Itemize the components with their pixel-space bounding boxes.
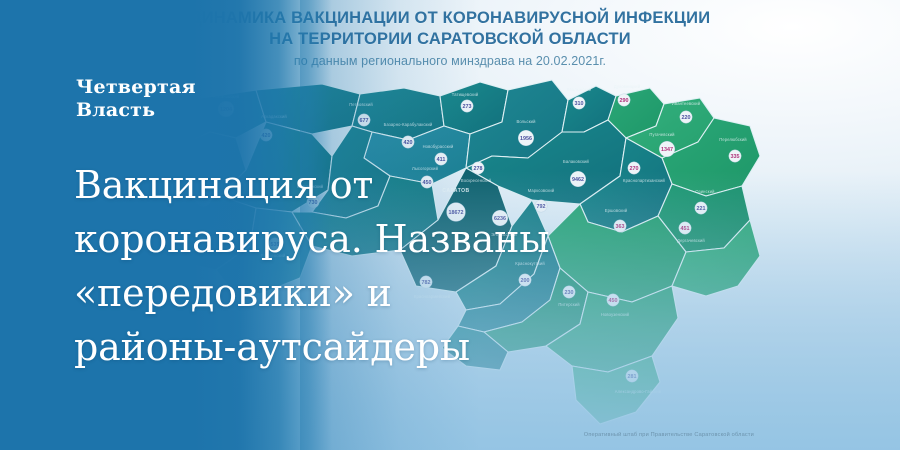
article-hero-image: РомановскийТурковскийАркадакскийПетровск… [0,0,900,450]
headline-line4: районы-аутсайдеры [74,320,694,374]
bubble-value: 335 [731,154,740,160]
map-value-bubble[interactable]: 220 [680,111,692,123]
map-region-label: Перелюбский [719,137,746,142]
map-value-bubble[interactable]: 335 [729,150,741,162]
map-region-label: Вольский [516,119,535,124]
headline-line2: коронавируса. Названы [74,212,694,266]
bubble-value: 310 [575,101,584,107]
map-region-label: Ивантеевский [672,101,700,106]
map-region-label: Хвалынский [567,87,592,92]
map-value-bubble[interactable]: 290 [618,94,630,106]
bubble-value: 1956 [520,136,532,142]
headline-line3: «передовики» и [74,266,694,320]
bubble-value: 220 [682,115,691,121]
site-logo[interactable]: Четвертая Власть [76,76,196,122]
map-value-bubble[interactable]: 1956 [518,130,534,146]
map-source-credit: Оперативный штаб при Правительстве Сарат… [584,432,754,438]
map-region-label: Духовницкий [614,84,640,89]
map-value-bubble[interactable]: 310 [573,97,585,109]
headline-line1: Вакцинация от [74,158,694,212]
map-value-bubble[interactable]: 1347 [659,141,675,157]
site-logo-line2: Власть [76,99,196,122]
bubble-value: 1347 [661,147,673,153]
map-region-label: Пугачевский [649,132,674,137]
bubble-value: 290 [620,98,629,104]
article-headline[interactable]: Вакцинация от коронавируса. Названы «пер… [74,158,694,374]
site-logo-line1: Четвертая [76,76,196,99]
